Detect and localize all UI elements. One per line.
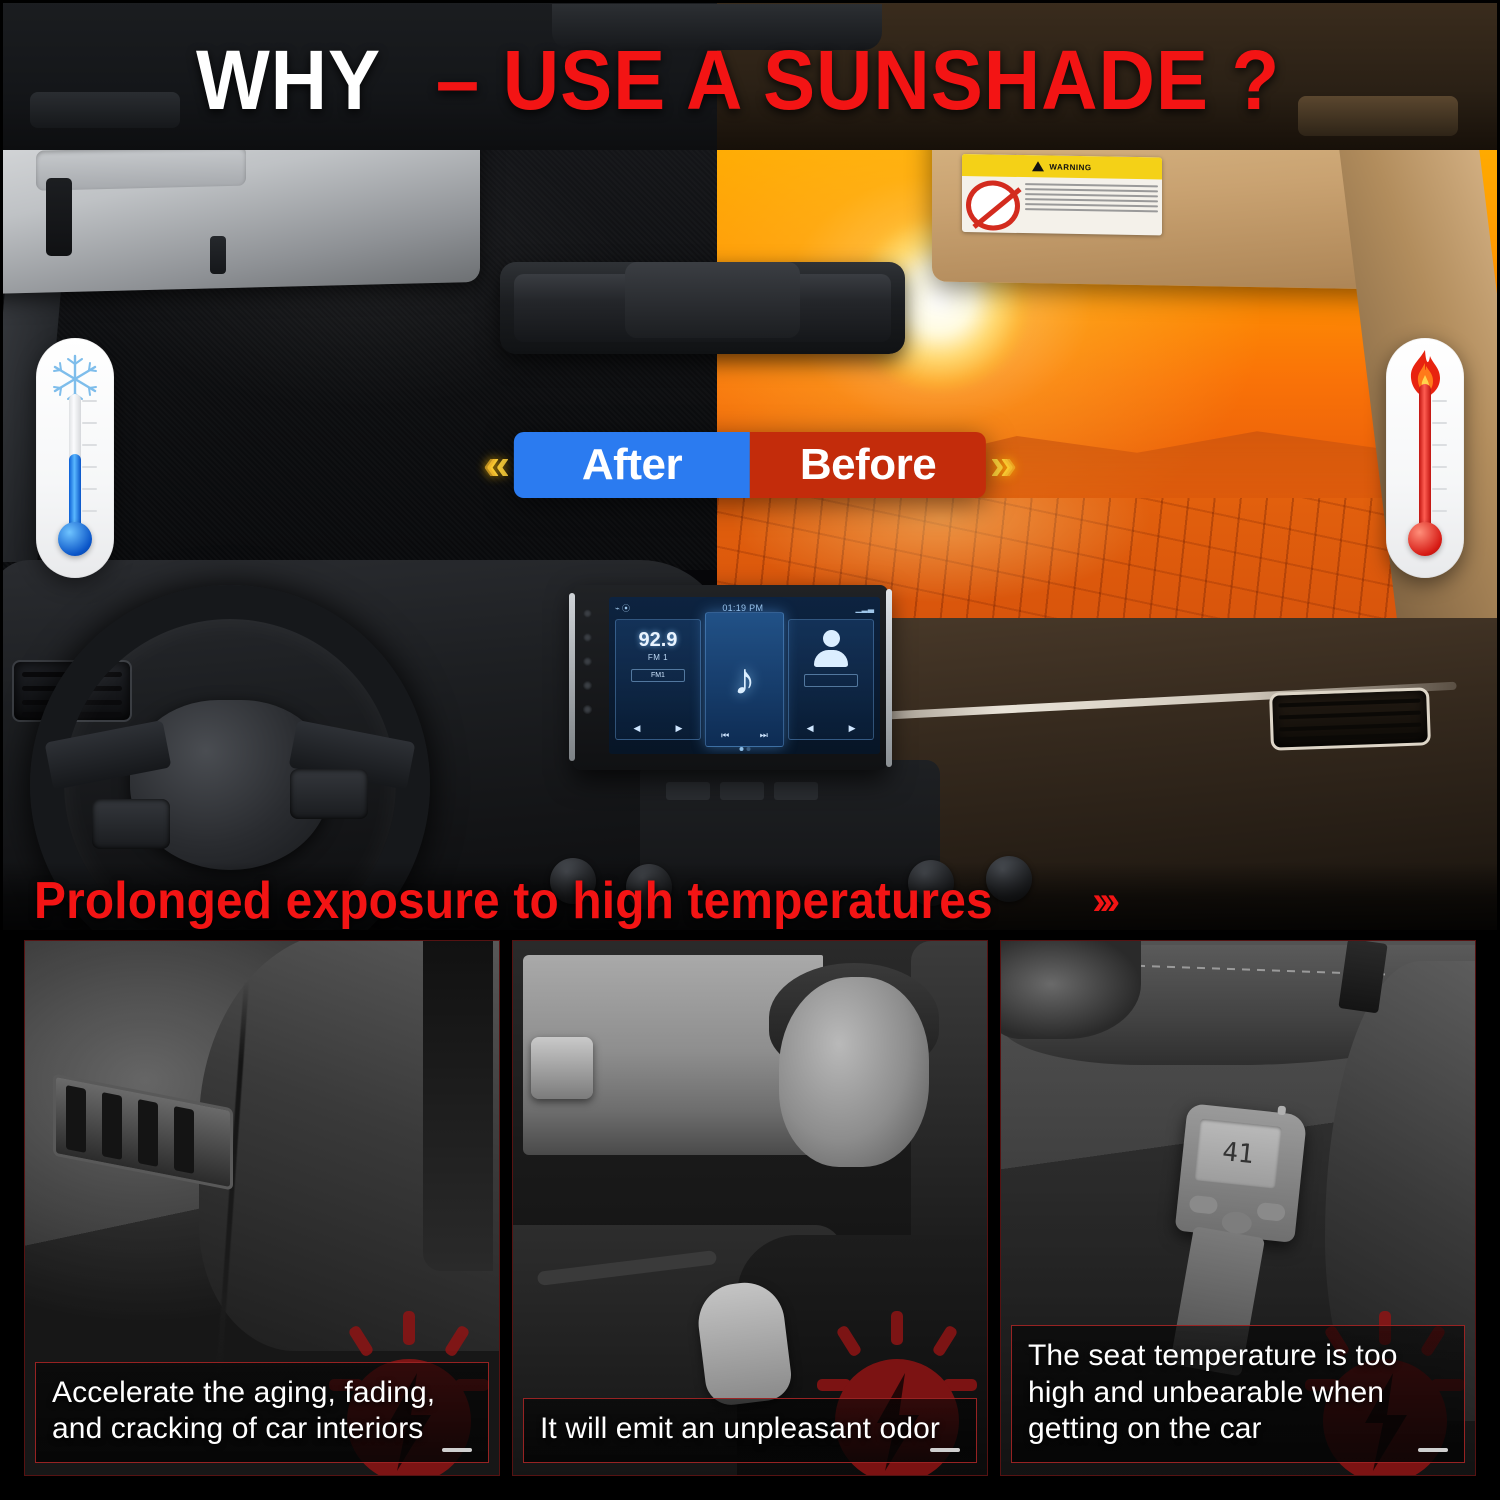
person-head: [823, 630, 840, 647]
screen-mount-bracket: [46, 178, 72, 256]
head-unit-side-buttons[interactable]: [583, 609, 592, 714]
radio-controls[interactable]: ◀ ▶: [616, 723, 700, 734]
badge-group[interactable]: After Before: [514, 432, 986, 498]
subheading-arrows-icon: ›››: [1092, 879, 1114, 924]
b-pillar: [423, 941, 493, 1271]
media-card[interactable]: ♪ ⏮ ⏭: [705, 612, 784, 747]
steering-spoke-left: [45, 720, 172, 790]
dot-active[interactable]: [739, 747, 743, 751]
steering-buttons-left: [92, 799, 170, 849]
benefit-panels: Accelerate the aging, fading, and cracki…: [0, 940, 1500, 1500]
thermometer-fill-hot: [1419, 384, 1431, 532]
panel-caption: The seat temperature is too high and unb…: [1011, 1325, 1465, 1463]
after-badge[interactable]: After: [514, 432, 750, 498]
thermometer-button-right: [1256, 1202, 1286, 1222]
bluetooth-icon: ⌁ ⦿: [615, 603, 630, 614]
subheading-text: Prolonged exposure to high temperatures: [34, 871, 993, 931]
preset-pill[interactable]: FM1: [631, 669, 685, 682]
rearview-mirror: [500, 262, 905, 354]
infotainment-screen[interactable]: ⌁ ⦿ 01:19 PM ▁▂▃ 92.9 FM 1 FM1 ◀ ▶: [609, 597, 880, 754]
no-child-seat-icon: [966, 180, 1020, 231]
warning-triangle-icon: [1032, 161, 1044, 171]
hot-thermometer: [1386, 338, 1464, 578]
contact-pill[interactable]: [804, 674, 858, 687]
radio-frequency: 92.9: [638, 630, 677, 650]
air-vent-right: [1269, 687, 1431, 751]
thermometer-fill-cold: [69, 454, 81, 532]
screen-cards: 92.9 FM 1 FM1 ◀ ▶ ♪ ⏮ ⏭: [615, 619, 874, 740]
audio-button-icon[interactable]: [583, 657, 592, 666]
caption-text: Accelerate the aging, fading, and cracki…: [52, 1375, 474, 1448]
signal-icon: ▁▂▃: [856, 604, 874, 613]
phone-controls[interactable]: ◀ ▶: [789, 723, 873, 734]
side-mirror: [531, 1037, 593, 1099]
music-note-icon: ♪: [734, 658, 756, 702]
person-body: [814, 650, 848, 667]
infrared-thermometer: 41: [1175, 1103, 1308, 1243]
console-buttons: [666, 782, 818, 800]
volume-button-icon[interactable]: [583, 681, 592, 690]
photo-man-covering-nose: [513, 941, 987, 1475]
person-icon: [814, 630, 848, 667]
home-button-icon[interactable]: [583, 609, 592, 618]
radio-band: FM 1: [648, 653, 668, 662]
power-button-icon[interactable]: [583, 705, 592, 714]
before-after-hero: WARNING: [0, 0, 1500, 930]
radio-card[interactable]: 92.9 FM 1 FM1 ◀ ▶: [615, 619, 701, 740]
contact-next-icon[interactable]: ▶: [849, 723, 856, 734]
grab-handle-right: [1298, 96, 1458, 136]
before-badge[interactable]: Before: [750, 432, 986, 498]
right-chevrons-icon: » ›: [996, 443, 1011, 487]
product-infographic: WARNING: [0, 0, 1500, 1500]
visor-warning-label: WARNING: [962, 154, 1162, 235]
panel-hot-seat: 41 The seat temper: [1000, 940, 1476, 1476]
caption-dash: [1418, 1448, 1448, 1452]
subheading-banner: Prolonged exposure to high temperatures …: [0, 862, 1500, 940]
rewind-icon[interactable]: ⏮: [721, 730, 729, 741]
thermometer-sensor-tip: [1277, 1106, 1286, 1116]
panel-unpleasant-odor: It will emit an unpleasant odor: [512, 940, 988, 1476]
warning-label-body: [962, 176, 1162, 235]
before-after-toggle[interactable]: ‹ « After Before » ›: [489, 432, 1011, 498]
menu-button-icon[interactable]: [583, 633, 592, 642]
forward-icon[interactable]: ⏭: [760, 730, 768, 741]
panel-aging-interiors: Accelerate the aging, fading, and cracki…: [24, 940, 500, 1476]
caption-text: It will emit an unpleasant odor: [540, 1411, 962, 1448]
caption-dash: [442, 1448, 472, 1452]
mirror-stem: [210, 236, 226, 274]
panel-caption: Accelerate the aging, fading, and cracki…: [35, 1362, 489, 1463]
caption-text: The seat temperature is too high and unb…: [1028, 1338, 1450, 1448]
grab-handle-left: [30, 92, 180, 128]
dot-inactive[interactable]: [746, 747, 750, 751]
media-controls[interactable]: ⏮ ⏭: [706, 730, 783, 741]
cold-thermometer: [36, 338, 114, 578]
thermometer-bulb-hot: [1408, 522, 1442, 556]
page-indicator-dots[interactable]: [739, 747, 750, 751]
left-chevrons-icon: ‹ «: [489, 443, 504, 487]
thermometer-button-left: [1189, 1195, 1219, 1215]
infotainment-head-unit[interactable]: ⌁ ⦿ 01:19 PM ▁▂▃ 92.9 FM 1 FM1 ◀ ▶: [573, 585, 888, 770]
person-face: [779, 977, 929, 1167]
thermometer-reading: 41: [1194, 1118, 1282, 1188]
contact-previous-icon[interactable]: ◀: [807, 723, 814, 734]
panel-caption: It will emit an unpleasant odor: [523, 1398, 977, 1463]
overhead-console: [552, 4, 882, 50]
warning-heading: WARNING: [1049, 162, 1091, 172]
phone-card[interactable]: ◀ ▶: [788, 619, 874, 740]
rearview-mirror-housing: [625, 262, 800, 338]
steering-buttons-right: [290, 769, 368, 819]
next-icon[interactable]: ▶: [675, 723, 682, 734]
thermometer-bulb-cold: [58, 522, 92, 556]
previous-icon[interactable]: ◀: [634, 723, 641, 734]
caption-dash: [930, 1448, 960, 1452]
warning-text-lines: [1025, 181, 1158, 233]
